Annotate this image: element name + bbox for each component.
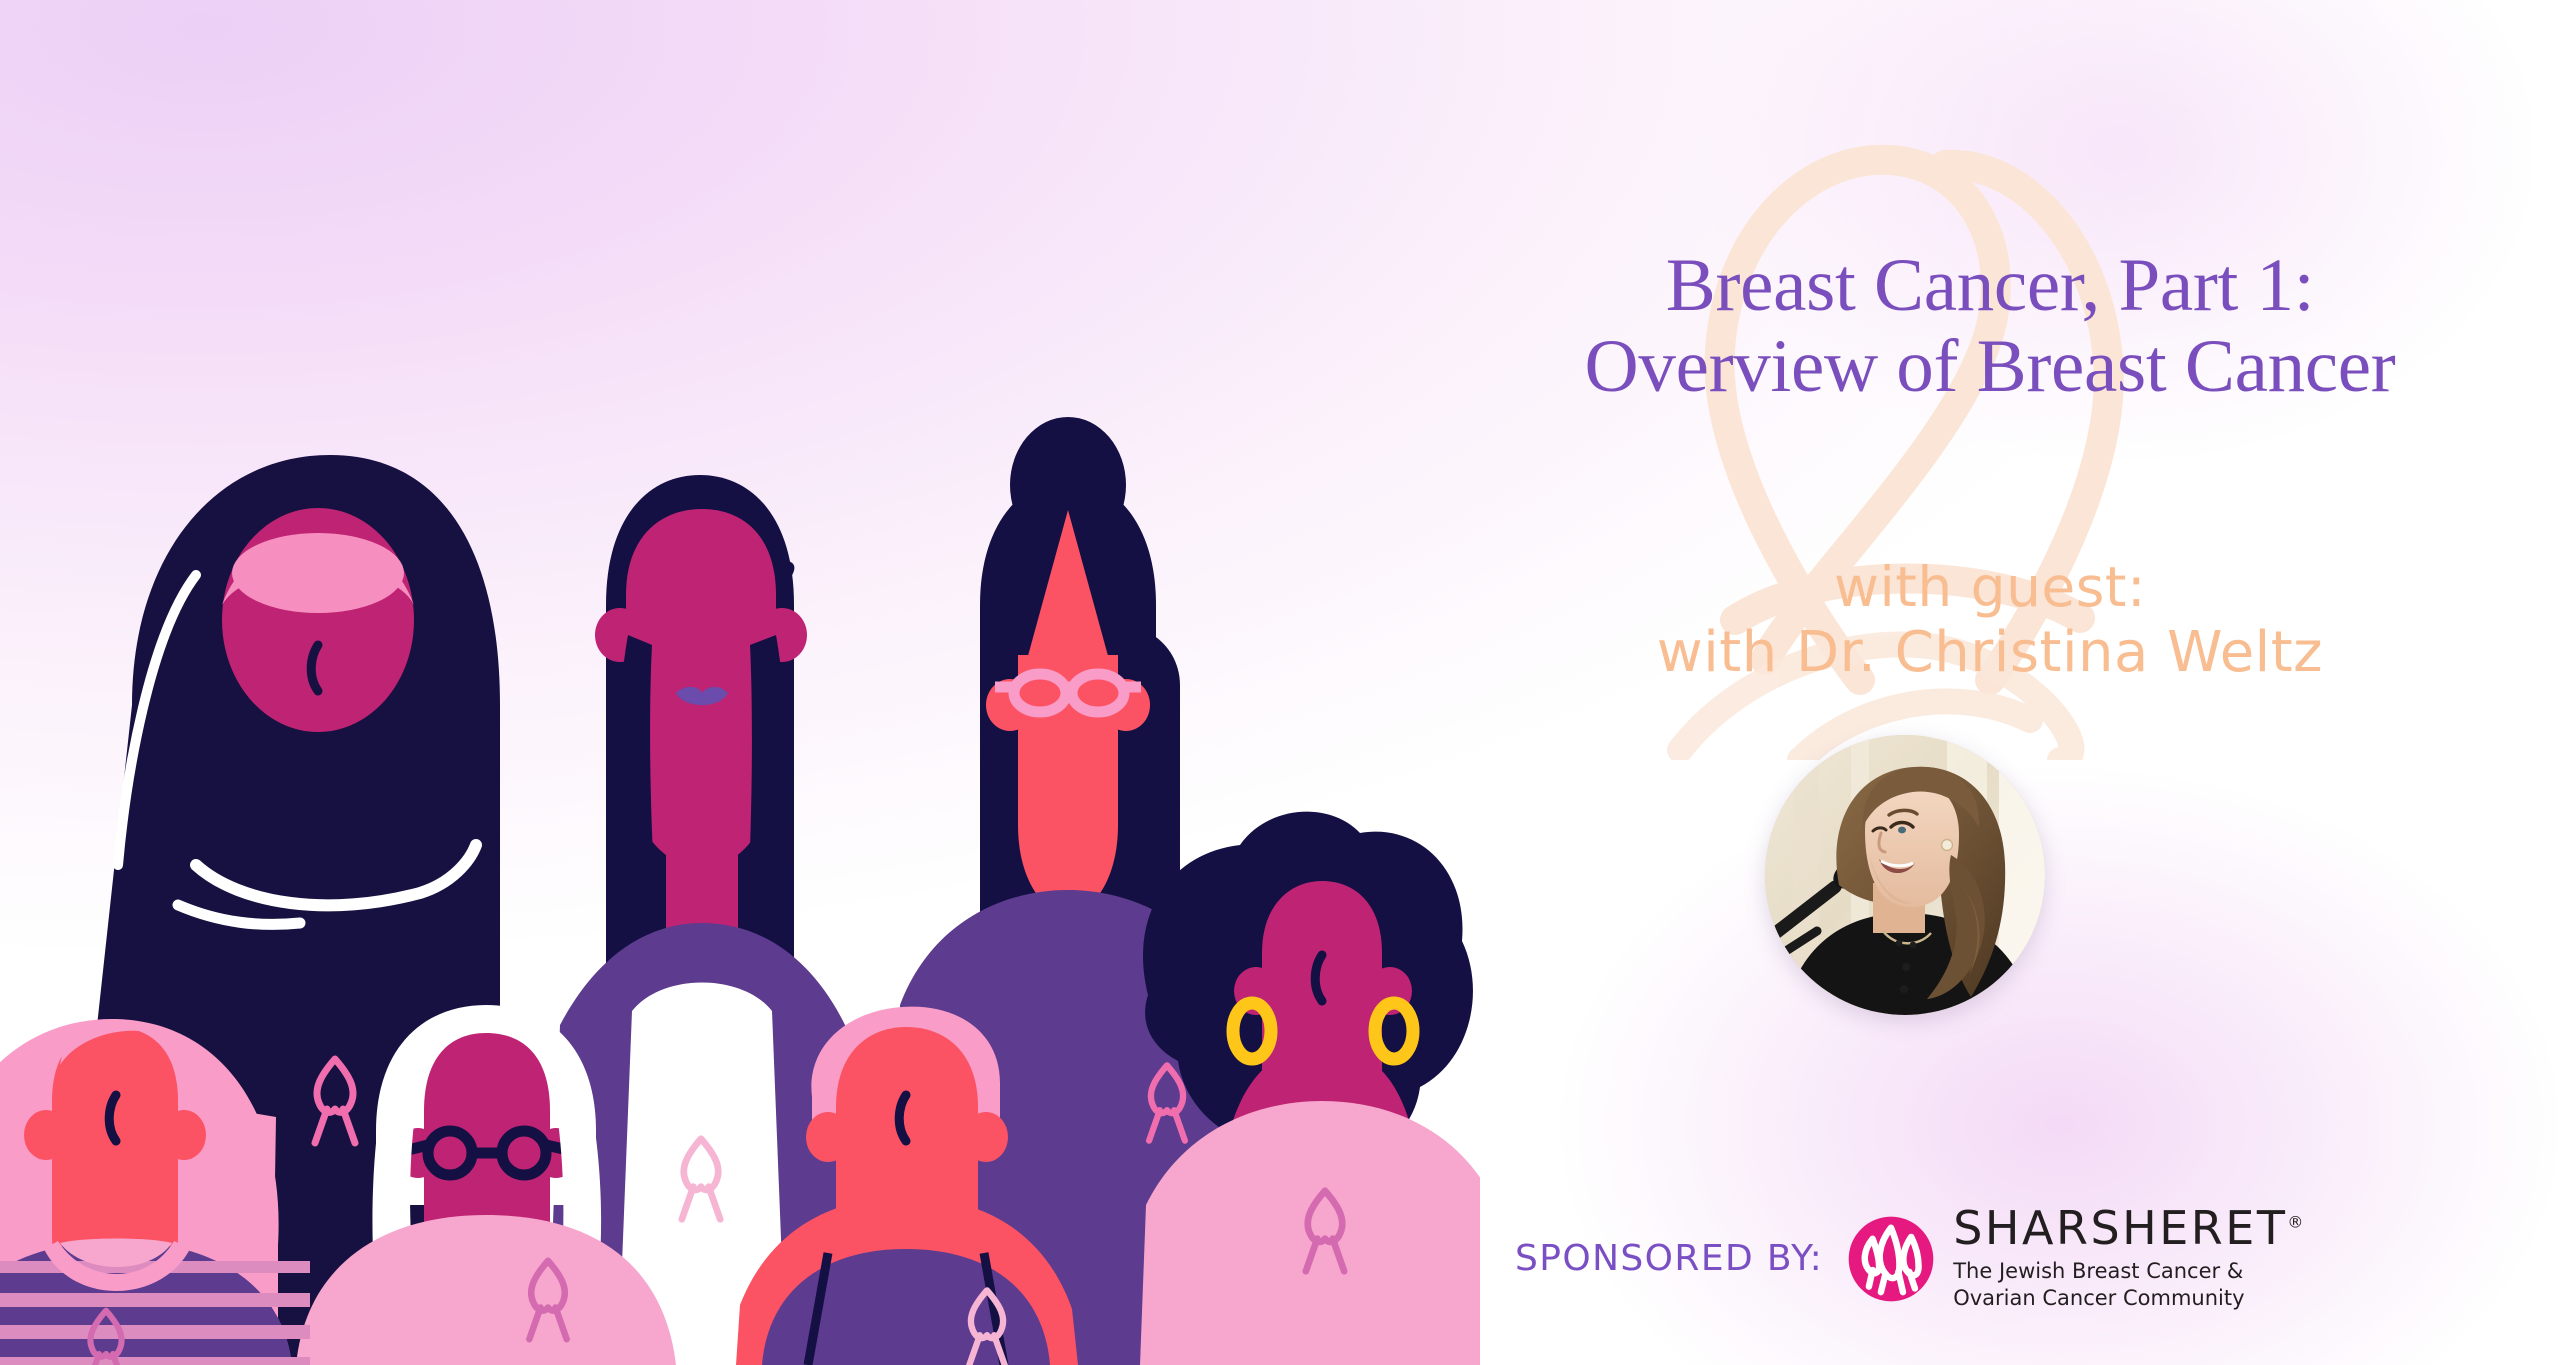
sponsor-strip: SPONSORED BY: bbox=[1515, 1205, 2303, 1313]
page-title: Breast Cancer, Part 1: Overview of Breas… bbox=[1420, 245, 2560, 407]
registered-trademark-icon: ® bbox=[2287, 1213, 2303, 1232]
title-line-2: Overview of Breast Cancer bbox=[1420, 326, 2560, 407]
sponsored-by-label: SPONSORED BY: bbox=[1515, 1238, 1823, 1279]
title-card-canvas: Breast Cancer, Part 1: Overview of Breas… bbox=[0, 0, 2560, 1365]
sharsheret-tagline: The Jewish Breast Cancer & Ovarian Cance… bbox=[1953, 1258, 2303, 1313]
women-group-illustration bbox=[0, 305, 1480, 1365]
sharsheret-wordmark: SHARSHERET® bbox=[1953, 1205, 2303, 1251]
subtitle-line-1: with guest: bbox=[1420, 555, 2560, 620]
subtitle-line-2: with Dr. Christina Weltz bbox=[1420, 620, 2560, 686]
sharsheret-logo[interactable]: SHARSHERET® The Jewish Breast Cancer & O… bbox=[1845, 1205, 2303, 1313]
tagline-line-1: The Jewish Breast Cancer & bbox=[1953, 1258, 2303, 1285]
sharsheret-ribbon-mark-icon bbox=[1845, 1213, 1937, 1305]
guest-subtitle: with guest: with Dr. Christina Weltz bbox=[1420, 555, 2560, 686]
wordmark-text: SHARSHERET bbox=[1953, 1201, 2287, 1255]
title-line-1: Breast Cancer, Part 1: bbox=[1420, 245, 2560, 326]
tagline-line-2: Ovarian Cancer Community bbox=[1953, 1285, 2303, 1312]
sharsheret-logo-text: SHARSHERET® The Jewish Breast Cancer & O… bbox=[1953, 1205, 2303, 1313]
right-content-column: Breast Cancer, Part 1: Overview of Breas… bbox=[1420, 0, 2560, 1365]
guest-portrait-avatar bbox=[1765, 735, 2045, 1015]
